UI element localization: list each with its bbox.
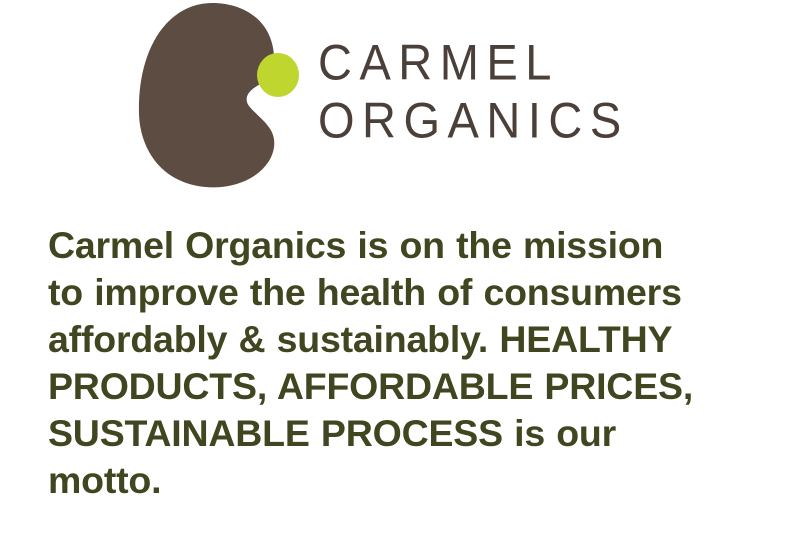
- logo-wordmark-line-1: CARMEL: [318, 32, 788, 93]
- mission-line: Carmel Organics is on the mission: [48, 222, 790, 269]
- logo-mark-svg: [138, 2, 300, 190]
- mission-line: PRODUCTS, AFFORDABLE PRICES,: [48, 363, 790, 410]
- mission-line: SUSTAINABLE PROCESS is our: [48, 410, 790, 457]
- mission-statement: Carmel Organics is on the mission to imp…: [48, 222, 790, 504]
- logo-mark: [138, 2, 300, 190]
- brand-logo: CARMEL ORGANICS: [0, 0, 799, 200]
- logo-wordmark: CARMEL ORGANICS: [318, 32, 788, 148]
- green-dot: [257, 53, 299, 97]
- mission-statement-text: Carmel Organics is on the mission to imp…: [48, 222, 790, 504]
- coffee-bean-shape: [139, 3, 274, 187]
- mission-line: motto.: [48, 457, 790, 504]
- mission-line: affordably & sustainably. HEALTHY: [48, 316, 790, 363]
- logo-wordmark-line-2: ORGANICS: [318, 90, 788, 151]
- mission-line: to improve the health of consumers: [48, 269, 790, 316]
- page-root: CARMEL ORGANICS Carmel Organics is on th…: [0, 0, 799, 544]
